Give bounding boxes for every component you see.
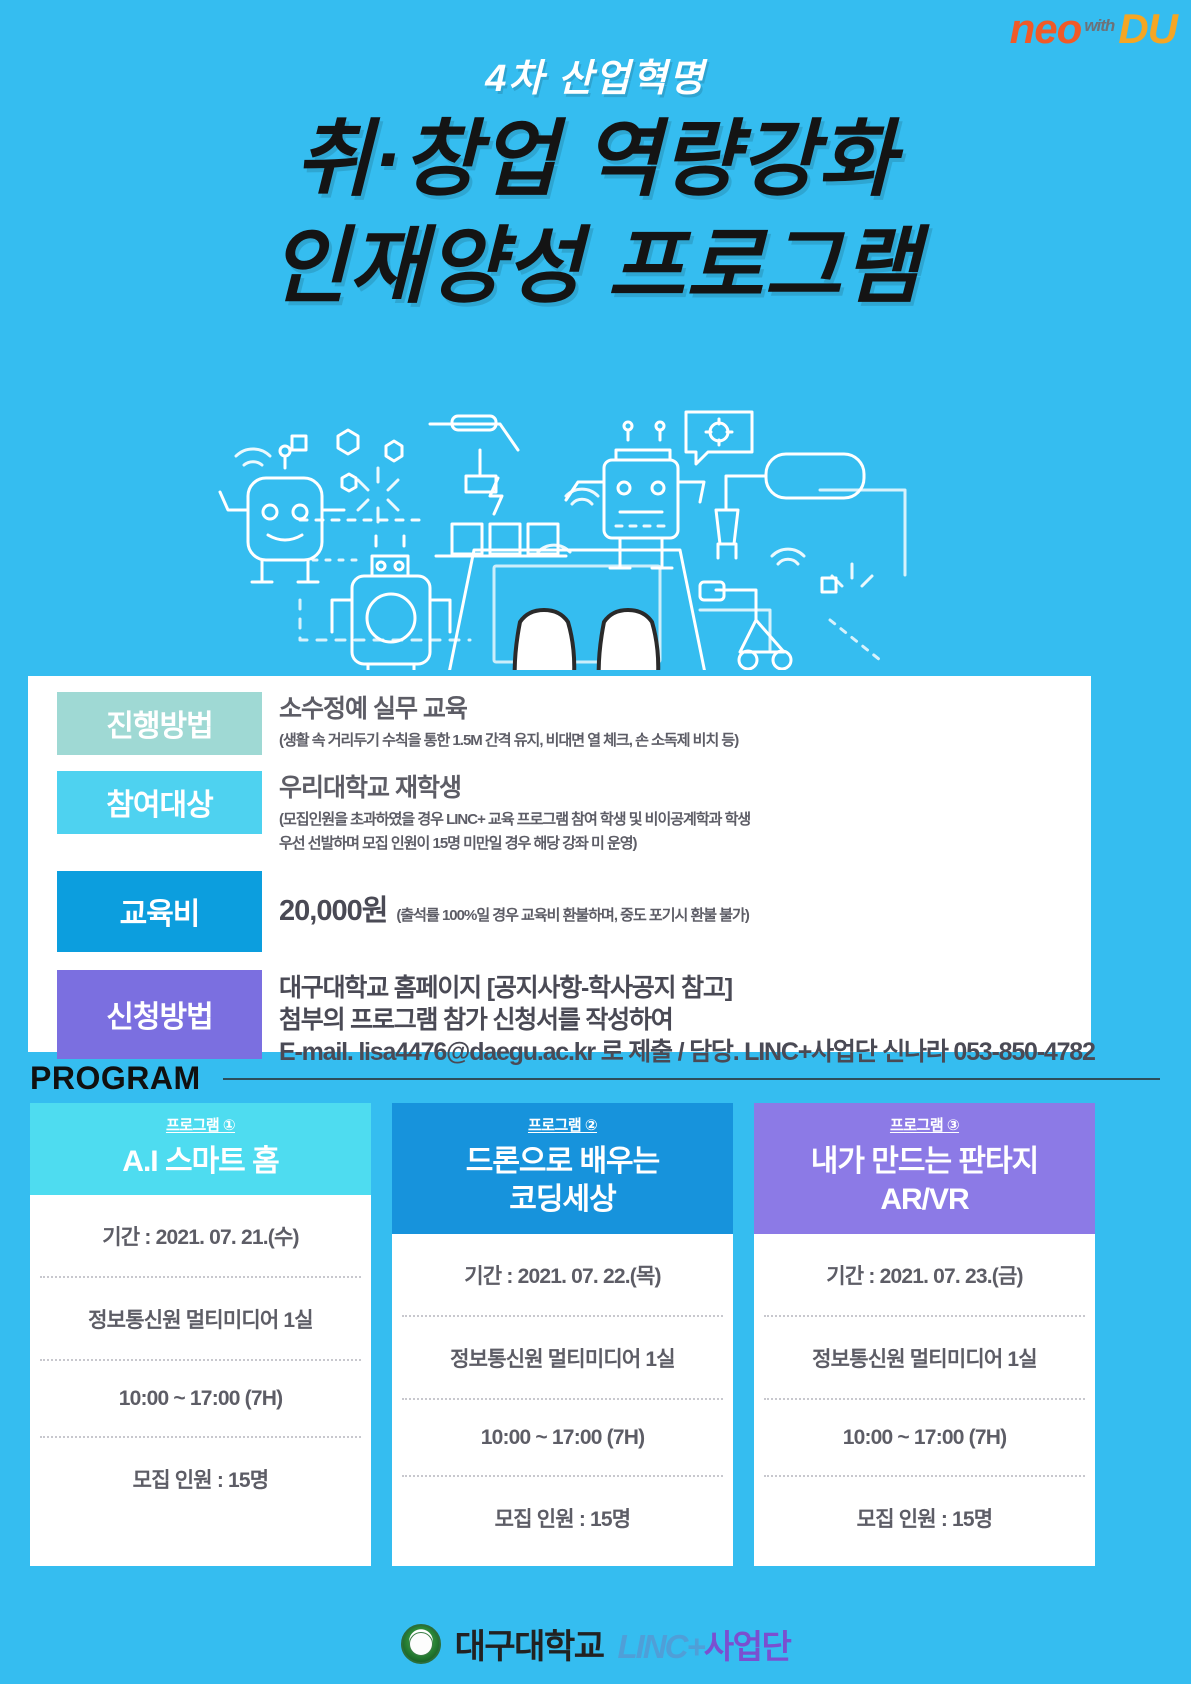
info-label-fee: 교육비 bbox=[57, 871, 262, 952]
program-card-1-capacity: 모집 인원 : 15명 bbox=[40, 1438, 361, 1519]
program-card-3-kicker: 프로그램 ③ bbox=[760, 1114, 1089, 1135]
info-panel: 진행방법 소수정예 실무 교육 (생활 속 거리두기 수칙을 통한 1.5M 간… bbox=[28, 676, 1091, 1052]
info-body-apply: 대구대학교 홈페이지 [공지사항-학사공지 참고] 첨부의 프로그램 참가 신청… bbox=[279, 970, 1095, 1068]
program-card-3-title: 내가 만드는 판타지 AR/VR bbox=[760, 1143, 1089, 1220]
info-note-target-2: 우선 선발하며 모집 인원이 15명 미만일 경우 해당 강좌 미 운영) bbox=[279, 833, 750, 855]
with-logo-text: with bbox=[1084, 17, 1114, 34]
headline-line-1: 취·창업 역량강화 bbox=[0, 110, 1191, 209]
footer-linc-logo: LINC+ 사업단 bbox=[618, 1620, 791, 1668]
program-card-2-body: 기간 : 2021. 07. 22.(목) 정보통신원 멀티미디어 1실 10:… bbox=[392, 1234, 733, 1566]
program-card-1-time: 10:00 ~ 17:00 (7H) bbox=[40, 1361, 361, 1438]
poster-headline: 4차 산업혁명 취·창업 역량강화 인재양성 프로그램 bbox=[0, 60, 1191, 316]
university-emblem-icon bbox=[401, 1624, 441, 1664]
program-heading-divider bbox=[223, 1078, 1160, 1080]
fee-note: (출석률 100%일 경우 교육비 환불하며, 중도 포기시 환불 불가) bbox=[396, 904, 748, 925]
footer-logos: 대구대학교 LINC+ 사업단 bbox=[0, 1619, 1191, 1668]
program-card-1-kicker: 프로그램 ① bbox=[36, 1114, 365, 1135]
info-label-apply: 신청방법 bbox=[57, 970, 262, 1059]
neo-logo-text: neo bbox=[1010, 8, 1082, 50]
info-body-fee: 20,000원 (출석률 100%일 경우 교육비 환불하며, 중도 포기시 환… bbox=[279, 871, 749, 929]
fee-amount: 20,000원 bbox=[279, 887, 387, 929]
program-card-2-time: 10:00 ~ 17:00 (7H) bbox=[402, 1400, 723, 1477]
footer-linc-org-text: 사업단 bbox=[704, 1620, 791, 1668]
info-row-target: 참여대상 우리대학교 재학생 (모집인원을 초과하였을 경우 LINC+ 교육 … bbox=[28, 771, 1091, 855]
apply-line-2: 첨부의 프로그램 참가 신청서를 작성하여 bbox=[279, 1004, 1095, 1036]
du-logo-text: DU bbox=[1118, 8, 1177, 50]
program-card-1[interactable]: 프로그램 ① A.I 스마트 홈 기간 : 2021. 07. 21.(수) 정… bbox=[30, 1103, 371, 1566]
info-body-method: 소수정예 실무 교육 (생활 속 거리두기 수칙을 통한 1.5M 간격 유지,… bbox=[279, 692, 738, 752]
program-section-title: PROGRAM bbox=[30, 1060, 201, 1097]
program-card-3-header: 프로그램 ③ 내가 만드는 판타지 AR/VR bbox=[754, 1103, 1095, 1234]
info-row-apply: 신청방법 대구대학교 홈페이지 [공지사항-학사공지 참고] 첨부의 프로그램 … bbox=[28, 970, 1091, 1068]
headline-kicker: 4차 산업혁명 bbox=[0, 60, 1191, 100]
program-card-3-time: 10:00 ~ 17:00 (7H) bbox=[764, 1400, 1085, 1477]
info-note-method: (생활 속 거리두기 수칙을 통한 1.5M 간격 유지, 비대면 열 체크, … bbox=[279, 730, 738, 752]
program-card-1-location: 정보통신원 멀티미디어 1실 bbox=[40, 1278, 361, 1361]
info-row-method: 진행방법 소수정예 실무 교육 (생활 속 거리두기 수칙을 통한 1.5M 간… bbox=[28, 692, 1091, 755]
program-card-3-body: 기간 : 2021. 07. 23.(금) 정보통신원 멀티미디어 1실 10:… bbox=[754, 1234, 1095, 1566]
program-card-1-header: 프로그램 ① A.I 스마트 홈 bbox=[30, 1103, 371, 1195]
program-card-2-kicker: 프로그램 ② bbox=[398, 1114, 727, 1135]
footer-university-name: 대구대학교 bbox=[455, 1619, 604, 1668]
robotics-illustration bbox=[0, 360, 1191, 670]
program-card-1-period: 기간 : 2021. 07. 21.(수) bbox=[40, 1195, 361, 1278]
program-card-2-location: 정보통신원 멀티미디어 1실 bbox=[402, 1317, 723, 1400]
program-card-2-period: 기간 : 2021. 07. 22.(목) bbox=[402, 1234, 723, 1317]
neo-with-du-logo: neo with DU bbox=[1010, 8, 1177, 50]
program-card-3-location: 정보통신원 멀티미디어 1실 bbox=[764, 1317, 1085, 1400]
program-card-3-period: 기간 : 2021. 07. 23.(금) bbox=[764, 1234, 1085, 1317]
program-card-2-title: 드론으로 배우는 코딩세상 bbox=[398, 1143, 727, 1220]
program-card-list: 프로그램 ① A.I 스마트 홈 기간 : 2021. 07. 21.(수) 정… bbox=[30, 1103, 1163, 1566]
info-label-target: 참여대상 bbox=[57, 771, 262, 834]
program-card-1-title: A.I 스마트 홈 bbox=[36, 1143, 365, 1181]
info-title-target: 우리대학교 재학생 bbox=[279, 773, 750, 804]
program-card-2-header: 프로그램 ② 드론으로 배우는 코딩세상 bbox=[392, 1103, 733, 1234]
info-note-target-1: (모집인원을 초과하였을 경우 LINC+ 교육 프로그램 참여 학생 및 비이… bbox=[279, 809, 750, 831]
footer-linc-text: LINC+ bbox=[618, 1628, 704, 1666]
info-body-target: 우리대학교 재학생 (모집인원을 초과하였을 경우 LINC+ 교육 프로그램 … bbox=[279, 771, 750, 855]
program-card-2[interactable]: 프로그램 ② 드론으로 배우는 코딩세상 기간 : 2021. 07. 22.(… bbox=[392, 1103, 733, 1566]
program-card-2-capacity: 모집 인원 : 15명 bbox=[402, 1477, 723, 1558]
info-label-method: 진행방법 bbox=[57, 692, 262, 755]
program-card-3-capacity: 모집 인원 : 15명 bbox=[764, 1477, 1085, 1558]
program-card-1-body: 기간 : 2021. 07. 21.(수) 정보통신원 멀티미디어 1실 10:… bbox=[30, 1195, 371, 1527]
program-card-3[interactable]: 프로그램 ③ 내가 만드는 판타지 AR/VR 기간 : 2021. 07. 2… bbox=[754, 1103, 1095, 1566]
headline-line-2: 인재양성 프로그램 bbox=[0, 217, 1191, 316]
info-row-fee: 교육비 20,000원 (출석률 100%일 경우 교육비 환불하며, 중도 포… bbox=[28, 871, 1091, 952]
apply-line-1: 대구대학교 홈페이지 [공지사항-학사공지 참고] bbox=[279, 972, 1095, 1004]
info-title-method: 소수정예 실무 교육 bbox=[279, 694, 738, 725]
program-section-heading: PROGRAM bbox=[30, 1060, 1160, 1097]
